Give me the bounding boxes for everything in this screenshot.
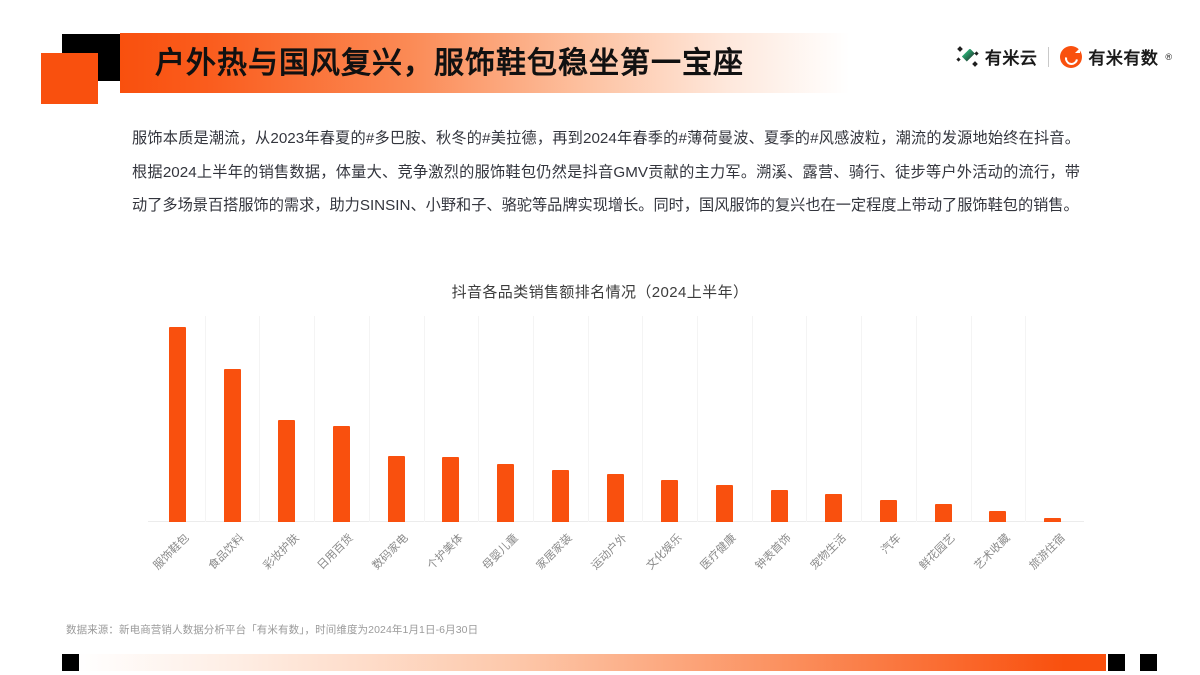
chart-x-label: 旅游住宿 bbox=[1014, 530, 1068, 584]
chart-gridline bbox=[424, 316, 425, 522]
page-header: 户外热与国风复兴，服饰鞋包稳坐第一宝座 有米云 有米有数 ® bbox=[0, 0, 1200, 115]
chart-x-label: 宠物生活 bbox=[795, 530, 849, 584]
chart-x-label: 个护美体 bbox=[412, 530, 466, 584]
logo-trademark-mark: ® bbox=[1165, 52, 1172, 62]
chart-bar[interactable] bbox=[388, 456, 405, 522]
youmi-data-icon bbox=[1060, 46, 1082, 68]
source-footnote: 数据来源：新电商营销人数据分析平台「有米有数」，时间维度为2024年1月1日-6… bbox=[66, 622, 478, 637]
chart-bar[interactable] bbox=[497, 464, 514, 522]
bottom-decor-square-mid bbox=[1108, 654, 1125, 671]
chart-title: 抖音各品类销售额排名情况（2024上半年） bbox=[0, 281, 1200, 302]
chart-bar[interactable] bbox=[169, 327, 186, 522]
chart-bar[interactable] bbox=[989, 511, 1006, 522]
bottom-decor-square-left bbox=[62, 654, 79, 671]
chart-x-label: 汽车 bbox=[850, 530, 904, 584]
chart-gridline bbox=[588, 316, 589, 522]
chart-bar[interactable] bbox=[607, 474, 624, 522]
intro-paragraph: 服饰本质是潮流，从2023年春夏的#多巴胺、秋冬的#美拉德，再到2024年春季的… bbox=[132, 122, 1080, 223]
logo-youmi-data-label: 有米有数 bbox=[1088, 44, 1158, 69]
logo-youmi-cloud: 有米云 bbox=[957, 44, 1038, 69]
chart-bar[interactable] bbox=[442, 457, 459, 522]
chart-bar[interactable] bbox=[333, 426, 350, 522]
chart-x-label: 数码家电 bbox=[358, 530, 412, 584]
chart-gridline bbox=[806, 316, 807, 522]
chart-gridline bbox=[642, 316, 643, 522]
chart-x-label: 食品饮料 bbox=[194, 530, 248, 584]
chart-gridline bbox=[697, 316, 698, 522]
chart-bar[interactable] bbox=[661, 480, 678, 522]
chart-gridline bbox=[1025, 316, 1026, 522]
header-decor-orange-square bbox=[41, 53, 98, 104]
chart-bar[interactable] bbox=[880, 500, 897, 522]
chart-bar[interactable] bbox=[771, 490, 788, 522]
youmi-cloud-icon bbox=[957, 46, 979, 68]
chart-x-label: 母婴儿童 bbox=[467, 530, 521, 584]
chart-bar[interactable] bbox=[224, 369, 241, 522]
chart-bar[interactable] bbox=[552, 470, 569, 522]
chart-bar[interactable] bbox=[716, 485, 733, 522]
chart-gridline bbox=[369, 316, 370, 522]
chart-x-label: 文化娱乐 bbox=[631, 530, 685, 584]
chart-x-label: 彩妆护肤 bbox=[248, 530, 302, 584]
chart-gridline bbox=[533, 316, 534, 522]
chart-gridline bbox=[259, 316, 260, 522]
chart-gridline bbox=[752, 316, 753, 522]
chart-x-label: 钟表首饰 bbox=[741, 530, 795, 584]
chart-x-label: 医疗健康 bbox=[686, 530, 740, 584]
chart-x-label: 鲜花园艺 bbox=[905, 530, 959, 584]
chart-x-label: 日用百货 bbox=[303, 530, 357, 584]
logo-youmi-data: 有米有数 ® bbox=[1060, 44, 1172, 69]
chart-plot-area bbox=[150, 316, 1080, 522]
chart-gridline bbox=[971, 316, 972, 522]
chart-gridline bbox=[861, 316, 862, 522]
chart-gridline bbox=[916, 316, 917, 522]
chart-x-label: 家居家装 bbox=[522, 530, 576, 584]
chart-x-label: 运动户外 bbox=[577, 530, 631, 584]
chart-x-label: 艺术收藏 bbox=[960, 530, 1014, 584]
chart-x-label: 服饰鞋包 bbox=[139, 530, 193, 584]
chart-bar[interactable] bbox=[825, 494, 842, 522]
logo-youmi-cloud-label: 有米云 bbox=[985, 44, 1038, 69]
chart-x-axis-labels: 服饰鞋包食品饮料彩妆护肤日用百货数码家电个护美体母婴儿童家居家装运动户外文化娱乐… bbox=[0, 522, 1200, 617]
logo-divider bbox=[1048, 47, 1049, 67]
chart-bar[interactable] bbox=[278, 420, 295, 522]
bottom-decor-square-right bbox=[1140, 654, 1157, 671]
chart-gridline bbox=[314, 316, 315, 522]
logo-bar: 有米云 有米有数 ® bbox=[957, 44, 1172, 69]
chart-gridline bbox=[478, 316, 479, 522]
bottom-gradient-bar bbox=[76, 654, 1106, 671]
chart-gridline bbox=[205, 316, 206, 522]
page-title: 户外热与国风复兴，服饰鞋包稳坐第一宝座 bbox=[155, 42, 895, 86]
chart-bar[interactable] bbox=[935, 504, 952, 522]
